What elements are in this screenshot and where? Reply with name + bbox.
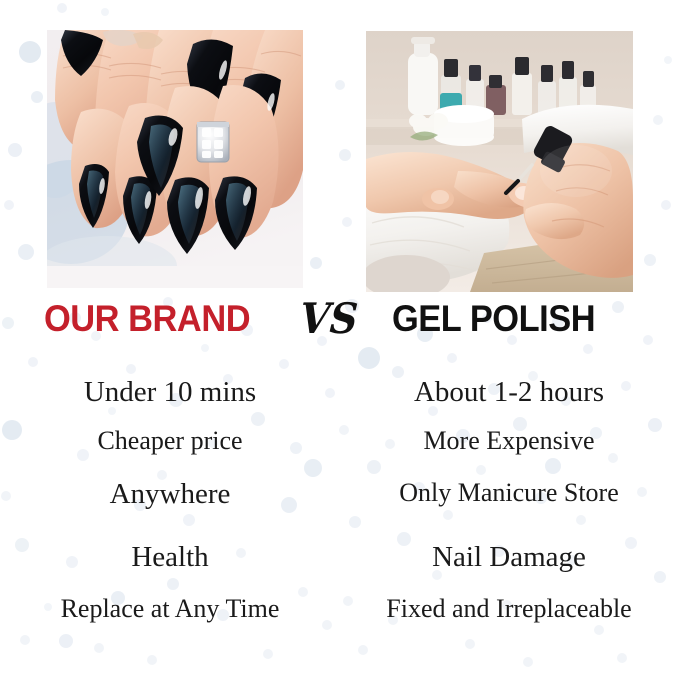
bokeh-dot bbox=[20, 635, 30, 645]
bokeh-dot bbox=[31, 91, 43, 103]
bokeh-dot bbox=[19, 41, 41, 63]
bokeh-dot bbox=[57, 3, 67, 13]
bokeh-dot bbox=[339, 149, 351, 161]
list-item: Only Manicure Store bbox=[339, 478, 679, 508]
photo-our-brand-nails bbox=[47, 30, 303, 288]
bokeh-dot bbox=[8, 143, 22, 157]
bokeh-dot bbox=[28, 357, 38, 367]
bokeh-dot bbox=[576, 515, 586, 525]
bokeh-dot bbox=[661, 200, 671, 210]
bokeh-dot bbox=[653, 115, 663, 125]
list-item: Under 10 mins bbox=[0, 376, 340, 409]
bokeh-dot bbox=[126, 364, 136, 374]
list-item: More Expensive bbox=[339, 426, 679, 456]
bokeh-dot bbox=[443, 510, 453, 520]
bokeh-dot bbox=[59, 634, 73, 648]
bokeh-dot bbox=[335, 80, 345, 90]
list-item: Replace at Any Time bbox=[0, 594, 340, 624]
bokeh-dot bbox=[644, 254, 656, 266]
bokeh-dot bbox=[4, 200, 14, 210]
bokeh-dot bbox=[101, 8, 109, 16]
title-row: OUR BRAND VS GEL POLISH bbox=[0, 298, 679, 348]
bokeh-dot bbox=[263, 649, 273, 659]
bokeh-dot bbox=[447, 353, 457, 363]
bokeh-dot bbox=[304, 459, 322, 477]
list-item: Anywhere bbox=[0, 478, 340, 511]
photo-gel-polish-salon bbox=[366, 31, 633, 292]
bokeh-dot bbox=[349, 516, 361, 528]
list-item: Fixed and Irreplaceable bbox=[339, 594, 679, 624]
bokeh-dot bbox=[183, 514, 195, 526]
vs-label: VS bbox=[298, 294, 359, 343]
bokeh-dot bbox=[367, 460, 381, 474]
bokeh-dot bbox=[342, 217, 352, 227]
bokeh-dot bbox=[664, 56, 672, 64]
bokeh-dot bbox=[358, 347, 380, 369]
list-item: About 1-2 hours bbox=[339, 376, 679, 409]
infographic-page: OUR BRAND VS GEL POLISH Under 10 mins Ch… bbox=[0, 0, 679, 679]
bokeh-dot bbox=[279, 359, 289, 369]
bokeh-dot bbox=[167, 578, 179, 590]
list-item: Health bbox=[0, 541, 340, 574]
bokeh-dot bbox=[18, 244, 34, 260]
bokeh-dot bbox=[476, 465, 486, 475]
bokeh-dot bbox=[358, 645, 368, 655]
list-item: Cheaper price bbox=[0, 426, 340, 456]
bokeh-dot bbox=[310, 257, 322, 269]
bokeh-dot bbox=[94, 643, 104, 653]
bokeh-dot bbox=[465, 639, 475, 649]
our-brand-title: OUR BRAND bbox=[44, 298, 250, 340]
bokeh-dot bbox=[545, 458, 561, 474]
bokeh-dot bbox=[523, 657, 533, 667]
bokeh-dot bbox=[147, 655, 157, 665]
bokeh-dot bbox=[594, 625, 604, 635]
list-item: Nail Damage bbox=[339, 541, 679, 574]
bokeh-dot bbox=[251, 412, 265, 426]
bokeh-dot bbox=[617, 653, 627, 663]
gel-polish-title: GEL POLISH bbox=[392, 298, 595, 340]
